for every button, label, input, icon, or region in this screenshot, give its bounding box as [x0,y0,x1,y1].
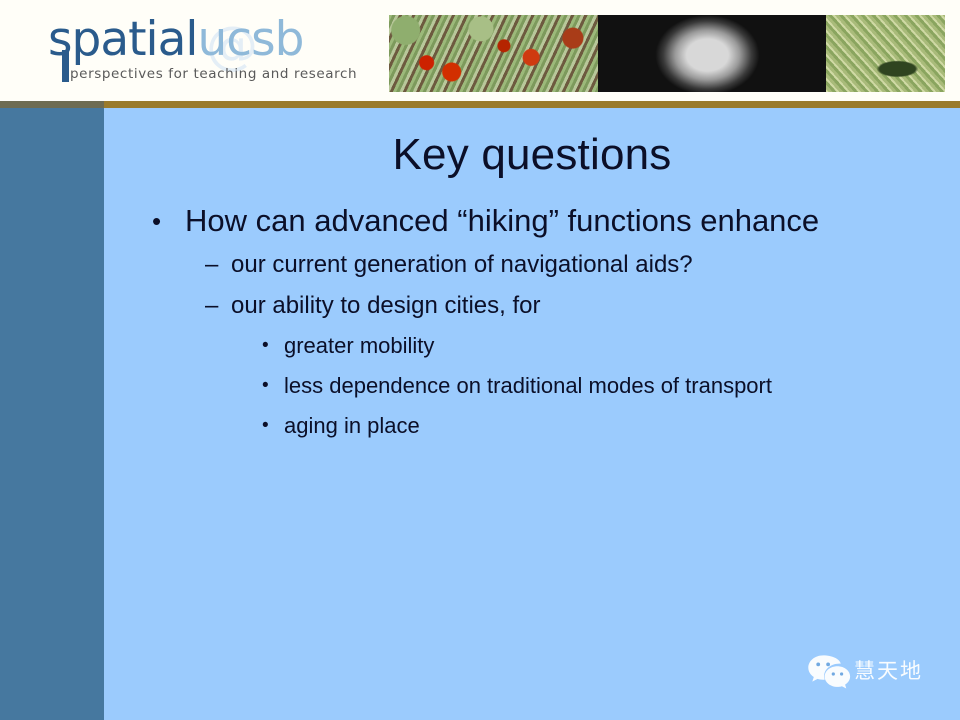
bullet-list: • How can advanced “hiking” functions en… [152,200,942,446]
satellite-landcover-image [389,15,598,92]
page-title: Key questions [104,128,960,182]
list-item-label: our current generation of navigational a… [231,244,891,285]
watermark-label: 慧天地 [854,660,923,682]
slide-sidebar-band [0,108,104,720]
header-gold-divider-sidebar-segment [0,101,104,108]
wechat-icon [806,653,852,689]
dash-marker-icon: – [205,244,231,285]
bullet-marker-icon: • [262,406,284,446]
list-item: • aging in place [262,406,942,446]
list-item-label: aging in place [284,406,904,446]
bullet-marker-icon: • [152,200,185,242]
brain-mri-image [598,15,826,92]
list-item: – our current generation of navigational… [205,244,942,285]
list-item: • greater mobility [262,326,942,366]
logo-word-primary: spatial [48,12,197,67]
list-item: • How can advanced “hiking” functions en… [152,200,942,242]
bullet-marker-icon: • [262,366,284,406]
list-item-label: greater mobility [284,326,904,366]
list-item-label: our ability to design cities, for [231,285,891,326]
list-item: – our ability to design cities, for [205,285,942,326]
list-item-label: How can advanced “hiking” functions enha… [185,200,825,242]
logo-descender-bar [62,50,69,82]
wechat-watermark: 慧天地 [806,651,942,691]
list-item-label: less dependence on traditional modes of … [284,366,904,406]
slide-header: @ spatialucsb perspectives for teaching … [0,0,960,101]
logo-word-secondary: ucsb [197,12,303,67]
list-item: • less dependence on traditional modes o… [262,366,942,406]
terrain-relief-image [826,15,945,92]
logo-tagline: perspectives for teaching and research [70,66,357,82]
header-gold-divider [0,101,960,108]
presentation-slide: @ spatialucsb perspectives for teaching … [0,0,960,720]
spatial-ucsb-logo: @ spatialucsb perspectives for teaching … [48,14,358,86]
logo-wordmark: spatialucsb [48,14,303,66]
bullet-marker-icon: • [262,326,284,366]
dash-marker-icon: – [205,285,231,326]
header-image-banner [389,15,945,92]
slide-content: Key questions • How can advanced “hiking… [104,108,960,720]
